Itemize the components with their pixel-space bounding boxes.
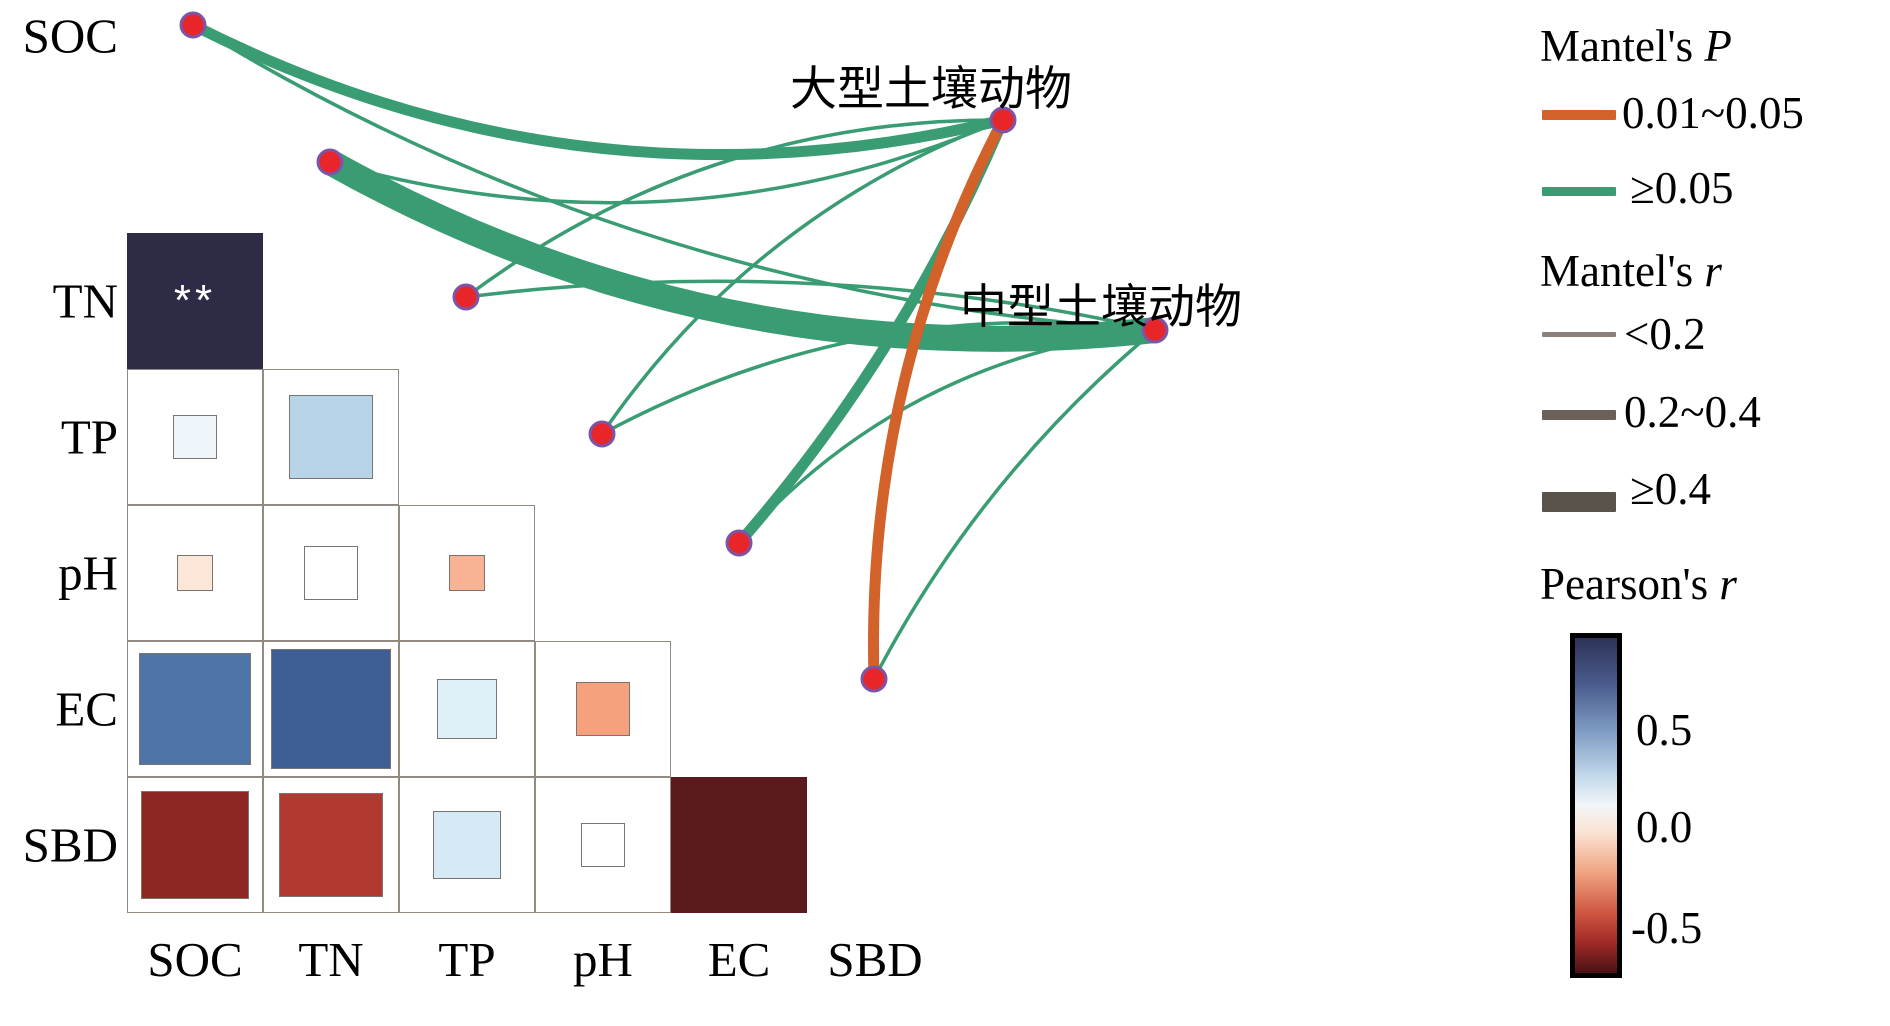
legend-swatch-mantel-r-1 [1542,410,1616,420]
legend-label-mantel-r-2: ≥0.4 [1630,463,1711,515]
legend-title-mantel-p-text: Mantel's [1540,21,1704,71]
legend-title-pearson-r-symbol: r [1719,559,1737,609]
network-edge [330,120,1003,203]
legend-swatch-mantel-p-1 [1542,187,1616,196]
pearson-colorbar [1570,633,1622,978]
colorbar-tick-0: 0.5 [1636,704,1692,756]
legend-swatch-mantel-r-2 [1542,492,1616,512]
legend-title-mantel-r-symbol: r [1704,246,1722,296]
colorbar-tick-2: -0.5 [1631,902,1702,954]
legend-title-mantel-p-symbol: P [1704,21,1732,71]
network-node-pH[interactable] [590,422,614,446]
legend-title-pearson-r: Pearson's r [1540,558,1737,610]
network-edge [739,330,1155,543]
network-node-SOC[interactable] [181,13,205,37]
network-node-TP[interactable] [454,285,478,309]
network-node-TN[interactable] [318,150,342,174]
network-node-EC[interactable] [727,531,751,555]
legend-panel: Mantel's P 0.01~0.05 ≥0.05 Mantel's r <0… [1540,0,1890,1026]
legend-title-mantel-r: Mantel's r [1540,245,1722,297]
legend-title-mantel-p: Mantel's P [1540,20,1732,72]
legend-label-mantel-r-1: 0.2~0.4 [1624,386,1761,438]
legend-label-mantel-p-1: ≥0.05 [1630,162,1733,214]
legend-label-mantel-r-0: <0.2 [1624,308,1706,360]
network-edge [874,330,1155,679]
network-edge [873,120,1003,679]
legend-swatch-mantel-r-0 [1542,332,1616,337]
colorbar-tick-1: 0.0 [1636,801,1692,853]
network-node-SBD[interactable] [862,667,886,691]
network-group-label-meso: 中型土壤动物 [960,268,1242,337]
figure-canvas: **SOCTNTPpHECSBDSOCTNTPpHECSBD 大型土壤动物 中型… [0,0,1890,1026]
mantel-network [0,0,1530,1026]
legend-title-pearson-r-text: Pearson's [1540,559,1719,609]
legend-label-mantel-p-0: 0.01~0.05 [1622,87,1804,139]
network-group-label-macro: 大型土壤动物 [790,50,1072,119]
legend-title-mantel-r-text: Mantel's [1540,246,1704,296]
legend-swatch-mantel-p-0 [1542,110,1616,120]
